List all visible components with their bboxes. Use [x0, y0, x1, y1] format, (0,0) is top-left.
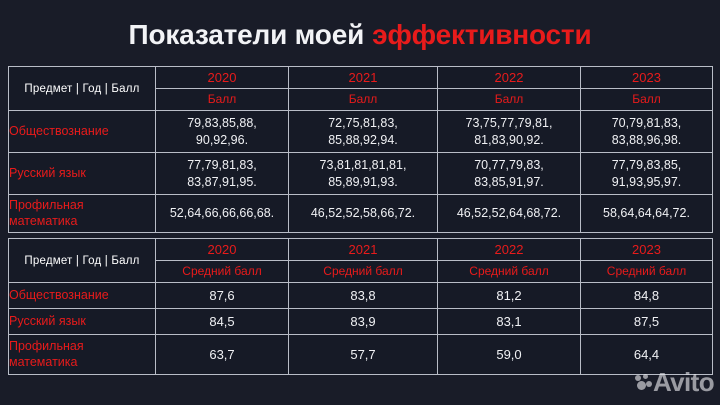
- averages-year-header-2023: 2023: [581, 239, 713, 261]
- scores-subject-obshestvoznanie: Обществознание: [9, 111, 156, 153]
- table-row: Профильная математика 52,64,66,66,66,68.…: [9, 195, 713, 233]
- averages-subject-obshestvoznanie: Обществознание: [9, 283, 156, 309]
- averages-cell-matematika-2023: 64,4: [581, 335, 713, 375]
- scores-cell-matematika-2022: 46,52,52,64,68,72.: [438, 195, 581, 233]
- slide-root: Показатели моейэффективности Предмет | Г…: [0, 0, 720, 405]
- scores-cell-obshestvoznanie-2023: 70,79,81,83, 83,88,96,98.: [581, 111, 713, 153]
- averages-subject-russkiy-yazyk: Русский язык: [9, 309, 156, 335]
- title-text-primary: Показатели моей: [129, 19, 365, 50]
- title-text-accent: эффективности: [372, 19, 591, 50]
- subject-line: математика: [9, 355, 77, 369]
- scores-year-header-2020: 2020: [156, 67, 289, 89]
- score-line: 81,83,90,92.: [438, 132, 580, 148]
- score-line: 83,87,91,95.: [156, 174, 288, 190]
- score-line: 77,79,81,83,: [156, 157, 288, 173]
- averages-cell-matematika-2020: 63,7: [156, 335, 289, 375]
- averages-cell-matematika-2022: 59,0: [438, 335, 581, 375]
- averages-table: Предмет | Год | Балл 2020 2021 2022 2023…: [8, 238, 713, 375]
- averages-year-header-2020: 2020: [156, 239, 289, 261]
- scores-table-body: Обществознание 79,83,85,88, 90,92,96. 72…: [9, 111, 713, 233]
- scores-year-header-2022: 2022: [438, 67, 581, 89]
- score-line: 70,77,79,83,: [438, 157, 580, 173]
- scores-cell-matematika-2021: 46,52,52,58,66,72.: [289, 195, 438, 233]
- scores-sub-header-2022: Балл: [438, 89, 581, 111]
- averages-sub-header-2023: Средний балл: [581, 261, 713, 283]
- scores-table: Предмет | Год | Балл 2020 2021 2022 2023…: [8, 66, 713, 233]
- averages-cell-obshestvoznanie-2020: 87,6: [156, 283, 289, 309]
- averages-table-body: Обществознание 87,6 83,8 81,2 84,8 Русск…: [9, 283, 713, 375]
- scores-sub-header-2020: Балл: [156, 89, 289, 111]
- table-row: Профильная математика 63,7 57,7 59,0 64,…: [9, 335, 713, 375]
- table-row: Обществознание 87,6 83,8 81,2 84,8: [9, 283, 713, 309]
- tables-container: Предмет | Год | Балл 2020 2021 2022 2023…: [0, 66, 720, 375]
- score-line: 90,92,96.: [156, 132, 288, 148]
- table-row: Обществознание 79,83,85,88, 90,92,96. 72…: [9, 111, 713, 153]
- score-line: 72,75,81,83,: [289, 115, 437, 131]
- scores-cell-obshestvoznanie-2021: 72,75,81,83, 85,88,92,94.: [289, 111, 438, 153]
- averages-subject-profilnaya-matematika: Профильная математика: [9, 335, 156, 375]
- score-line: 70,79,81,83,: [581, 115, 712, 131]
- score-line: 91,93,95,97.: [581, 174, 712, 190]
- score-line: 73,81,81,81,81,: [289, 157, 437, 173]
- scores-sub-header-2023: Балл: [581, 89, 713, 111]
- averages-cell-matematika-2021: 57,7: [289, 335, 438, 375]
- scores-cell-obshestvoznanie-2020: 79,83,85,88, 90,92,96.: [156, 111, 289, 153]
- scores-cell-russkiy-2022: 70,77,79,83, 83,85,91,97.: [438, 153, 581, 195]
- averages-cell-obshestvoznanie-2021: 83,8: [289, 283, 438, 309]
- page-title: Показатели моейэффективности: [129, 21, 592, 49]
- scores-cell-russkiy-2021: 73,81,81,81,81, 85,89,91,93.: [289, 153, 438, 195]
- scores-corner-header: Предмет | Год | Балл: [9, 67, 156, 111]
- subject-line: Профильная: [9, 339, 84, 353]
- averages-sub-header-2021: Средний балл: [289, 261, 438, 283]
- averages-table-head: Предмет | Год | Балл 2020 2021 2022 2023…: [9, 239, 713, 283]
- scores-cell-matematika-2020: 52,64,66,66,66,68.: [156, 195, 289, 233]
- scores-sub-header-2021: Балл: [289, 89, 438, 111]
- averages-year-header-2021: 2021: [289, 239, 438, 261]
- averages-sub-header-2020: Средний балл: [156, 261, 289, 283]
- scores-table-head: Предмет | Год | Балл 2020 2021 2022 2023…: [9, 67, 713, 111]
- score-line: 85,88,92,94.: [289, 132, 437, 148]
- scores-subject-profilnaya-matematika: Профильная математика: [9, 195, 156, 233]
- score-line: 83,88,96,98.: [581, 132, 712, 148]
- score-line: 85,89,91,93.: [289, 174, 437, 190]
- scores-subject-russkiy-yazyk: Русский язык: [9, 153, 156, 195]
- scores-year-header-2023: 2023: [581, 67, 713, 89]
- score-line: 73,75,77,79,81,: [438, 115, 580, 131]
- subject-line: Профильная: [9, 198, 84, 212]
- title-bar: Показатели моейэффективности: [0, 0, 720, 66]
- scores-year-header-2021: 2021: [289, 67, 438, 89]
- averages-year-header-2022: 2022: [438, 239, 581, 261]
- scores-cell-russkiy-2023: 77,79,83,85, 91,93,95,97.: [581, 153, 713, 195]
- averages-cell-obshestvoznanie-2023: 84,8: [581, 283, 713, 309]
- averages-sub-header-2022: Средний балл: [438, 261, 581, 283]
- scores-cell-obshestvoznanie-2022: 73,75,77,79,81, 81,83,90,92.: [438, 111, 581, 153]
- score-line: 83,85,91,97.: [438, 174, 580, 190]
- scores-cell-matematika-2023: 58,64,64,64,72.: [581, 195, 713, 233]
- averages-cell-russkiy-2022: 83,1: [438, 309, 581, 335]
- scores-cell-russkiy-2020: 77,79,81,83, 83,87,91,95.: [156, 153, 289, 195]
- score-line: 79,83,85,88,: [156, 115, 288, 131]
- averages-header-year-row: Предмет | Год | Балл 2020 2021 2022 2023: [9, 239, 713, 261]
- averages-cell-russkiy-2023: 87,5: [581, 309, 713, 335]
- table-row: Русский язык 77,79,81,83, 83,87,91,95. 7…: [9, 153, 713, 195]
- averages-corner-header: Предмет | Год | Балл: [9, 239, 156, 283]
- score-line: 77,79,83,85,: [581, 157, 712, 173]
- table-row: Русский язык 84,5 83,9 83,1 87,5: [9, 309, 713, 335]
- avito-logo-icon: [635, 374, 652, 391]
- averages-cell-russkiy-2021: 83,9: [289, 309, 438, 335]
- subject-line: математика: [9, 214, 77, 228]
- scores-header-year-row: Предмет | Год | Балл 2020 2021 2022 2023: [9, 67, 713, 89]
- averages-cell-obshestvoznanie-2022: 81,2: [438, 283, 581, 309]
- averages-cell-russkiy-2020: 84,5: [156, 309, 289, 335]
